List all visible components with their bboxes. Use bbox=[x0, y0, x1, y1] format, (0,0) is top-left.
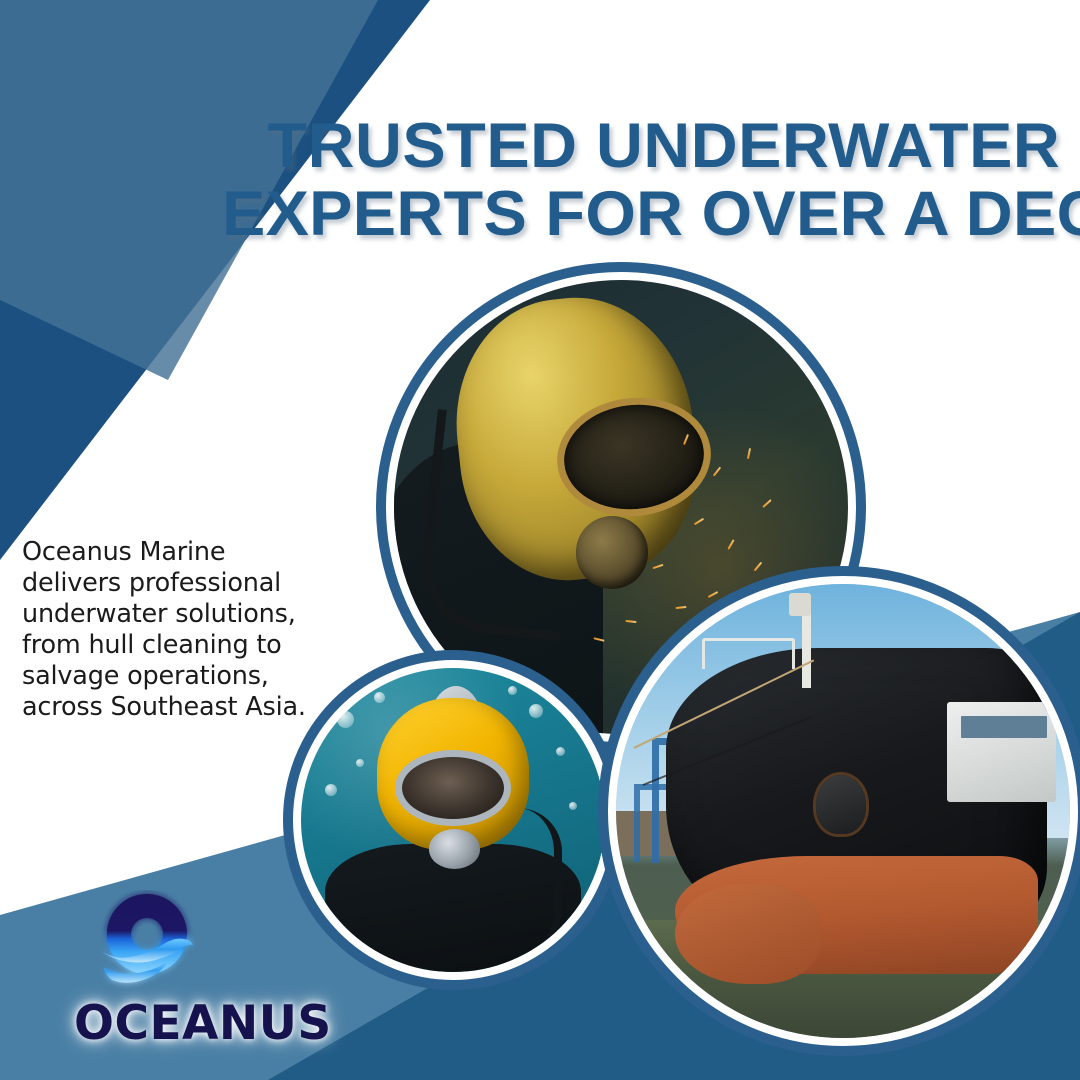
bubble bbox=[356, 759, 364, 767]
weld-spark bbox=[747, 448, 751, 459]
page-title: TRUSTED UNDERWATER EXPERTS FOR OVER A DE… bbox=[222, 112, 1080, 248]
photo-circle-cargo-ship bbox=[598, 566, 1080, 1056]
bubble bbox=[325, 784, 337, 796]
bubble bbox=[508, 686, 517, 695]
photo-circle-underwater-diver bbox=[283, 650, 623, 990]
weld-spark bbox=[653, 564, 664, 569]
anchor bbox=[816, 775, 866, 834]
mast-platform bbox=[789, 593, 812, 616]
logo-wordmark: OCEANUS bbox=[74, 996, 324, 1051]
weld-spark bbox=[754, 562, 763, 572]
weld-spark bbox=[727, 539, 734, 550]
headline-line-2: EXPERTS FOR OVER A DECADE bbox=[222, 180, 1080, 248]
helmet-regulator bbox=[576, 516, 649, 589]
bubble bbox=[374, 692, 385, 703]
bulbous-bow bbox=[675, 884, 820, 984]
bridge-windows bbox=[961, 716, 1047, 739]
weld-spark bbox=[713, 467, 721, 477]
bubble bbox=[337, 711, 354, 728]
breathing-coil bbox=[518, 808, 562, 954]
bubble bbox=[556, 747, 565, 756]
headline-line-1: TRUSTED UNDERWATER bbox=[222, 112, 1080, 180]
underwater-diver-image bbox=[301, 668, 605, 972]
helmet-faceport bbox=[395, 750, 511, 826]
cargo-ship-image bbox=[616, 584, 1070, 1038]
bubble bbox=[569, 802, 577, 810]
body-paragraph: Oceanus Marine delivers professional und… bbox=[22, 537, 322, 723]
weld-spark bbox=[694, 518, 704, 526]
bow-railing bbox=[702, 638, 794, 668]
oceanus-wave-ring-icon bbox=[84, 890, 212, 1008]
weld-spark bbox=[763, 499, 773, 508]
logo: OCEANUS bbox=[74, 890, 324, 1060]
helmet-regulator bbox=[429, 829, 481, 869]
bubble bbox=[529, 704, 543, 718]
marketing-poster: TRUSTED UNDERWATER EXPERTS FOR OVER A DE… bbox=[0, 0, 1080, 1080]
